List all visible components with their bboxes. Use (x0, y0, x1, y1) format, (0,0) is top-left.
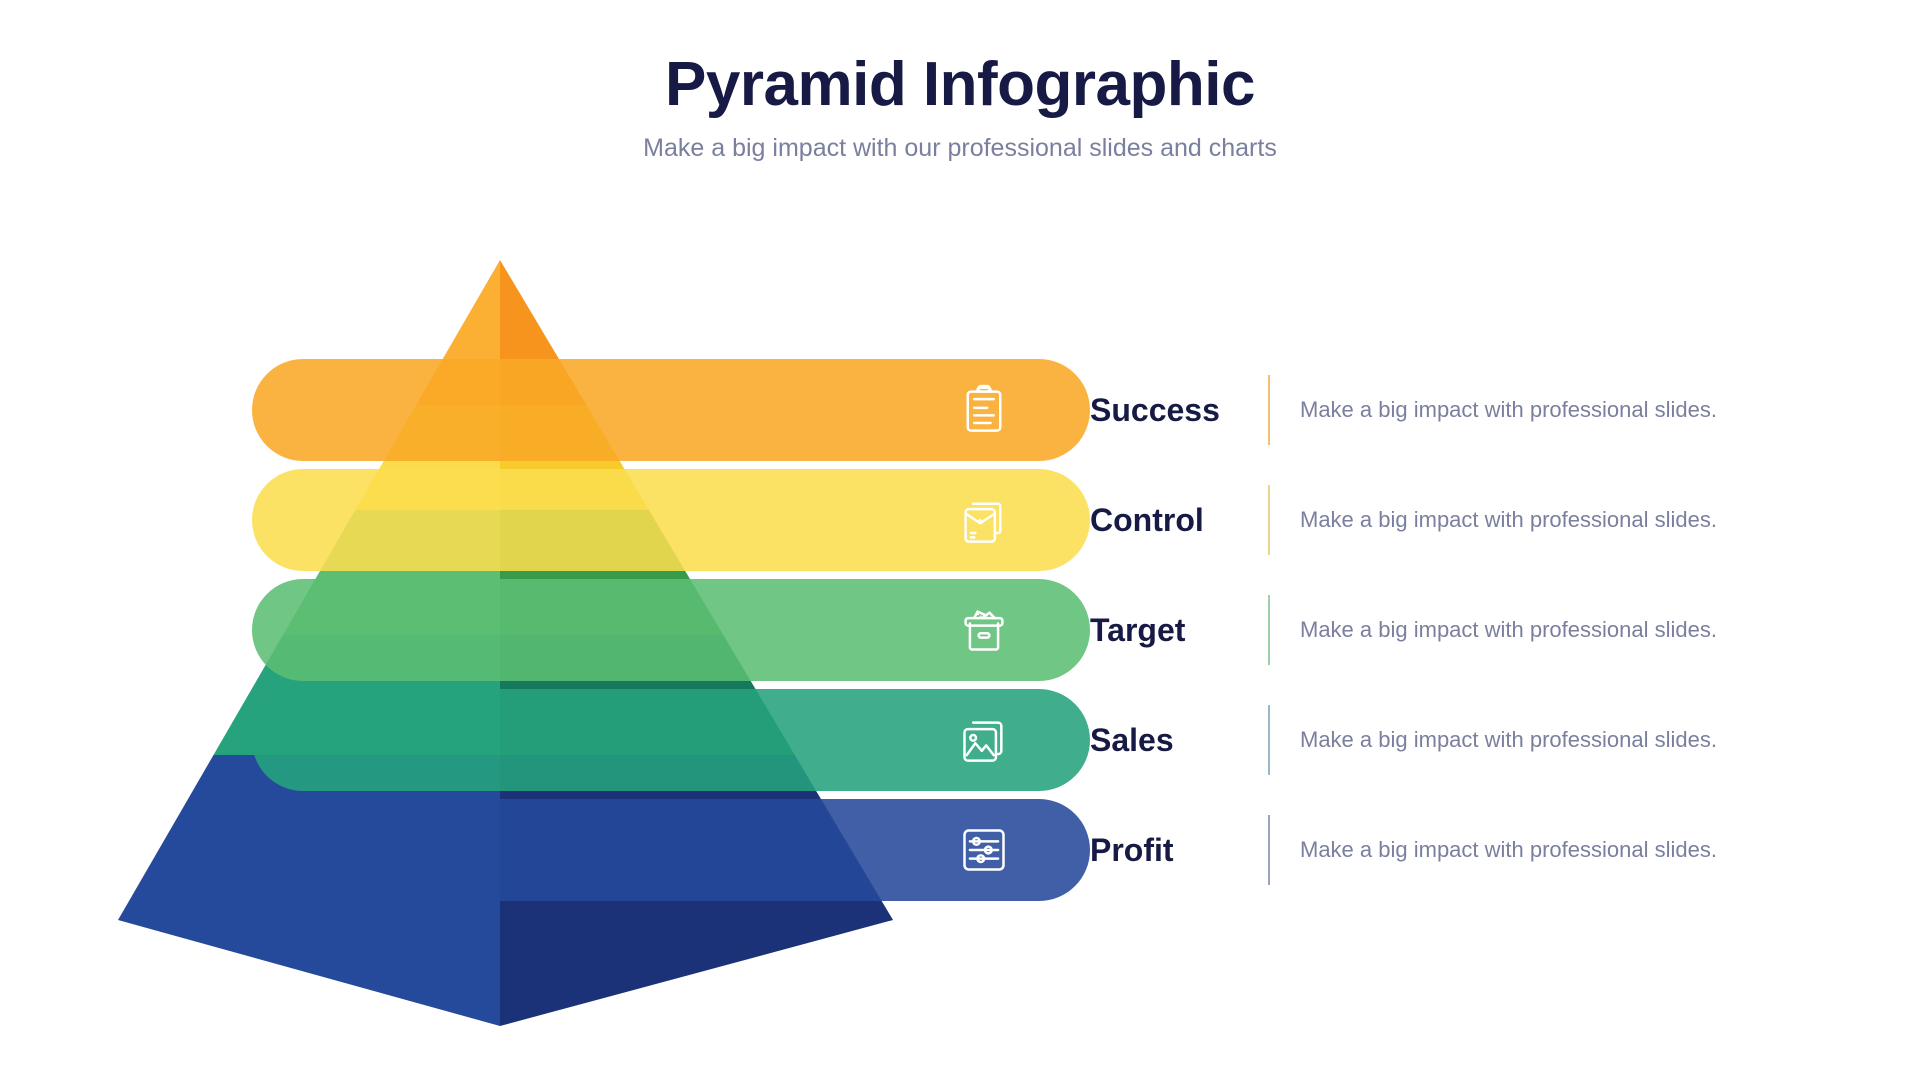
header: Pyramid Infographic Make a big impact wi… (0, 52, 1920, 163)
sliders-icon (955, 821, 1013, 879)
level-description-target: Make a big impact with professional slid… (1300, 605, 1717, 655)
page-subtitle: Make a big impact with our professional … (0, 133, 1920, 163)
level-description-success: Make a big impact with professional slid… (1300, 385, 1717, 435)
level-label-target: Target (1090, 603, 1260, 657)
level-divider-control (1268, 485, 1270, 555)
level-label-sales: Sales (1090, 713, 1260, 767)
pyramid-level-row-success[interactable]: Success Make a big impact with professio… (0, 355, 1920, 465)
level-divider-sales (1268, 705, 1270, 775)
level-description-profit: Make a big impact with professional slid… (1300, 825, 1717, 875)
page-title: Pyramid Infographic (0, 52, 1920, 119)
callout-rows: Success Make a big impact with professio… (0, 355, 1920, 955)
slide-canvas: Pyramid Infographic Make a big impact wi… (0, 0, 1920, 1081)
archive-box-icon (955, 601, 1013, 659)
level-description-sales: Make a big impact with professional slid… (1300, 715, 1717, 765)
pyramid-level-row-target[interactable]: Target Make a big impact with profession… (0, 575, 1920, 685)
pyramid-level-row-control[interactable]: Control Make a big impact with professio… (0, 465, 1920, 575)
level-divider-success (1268, 375, 1270, 445)
document-folder-icon (955, 491, 1013, 549)
level-label-control: Control (1090, 493, 1260, 547)
pyramid-level-row-sales[interactable]: Sales Make a big impact with professiona… (0, 685, 1920, 795)
level-label-profit: Profit (1090, 823, 1260, 877)
level-divider-target (1268, 595, 1270, 665)
pyramid-level-row-profit[interactable]: Profit Make a big impact with profession… (0, 795, 1920, 905)
level-description-control: Make a big impact with professional slid… (1300, 495, 1717, 545)
level-divider-profit (1268, 815, 1270, 885)
clipboard-icon (955, 381, 1013, 439)
level-label-success: Success (1090, 383, 1260, 437)
photos-icon (955, 711, 1013, 769)
